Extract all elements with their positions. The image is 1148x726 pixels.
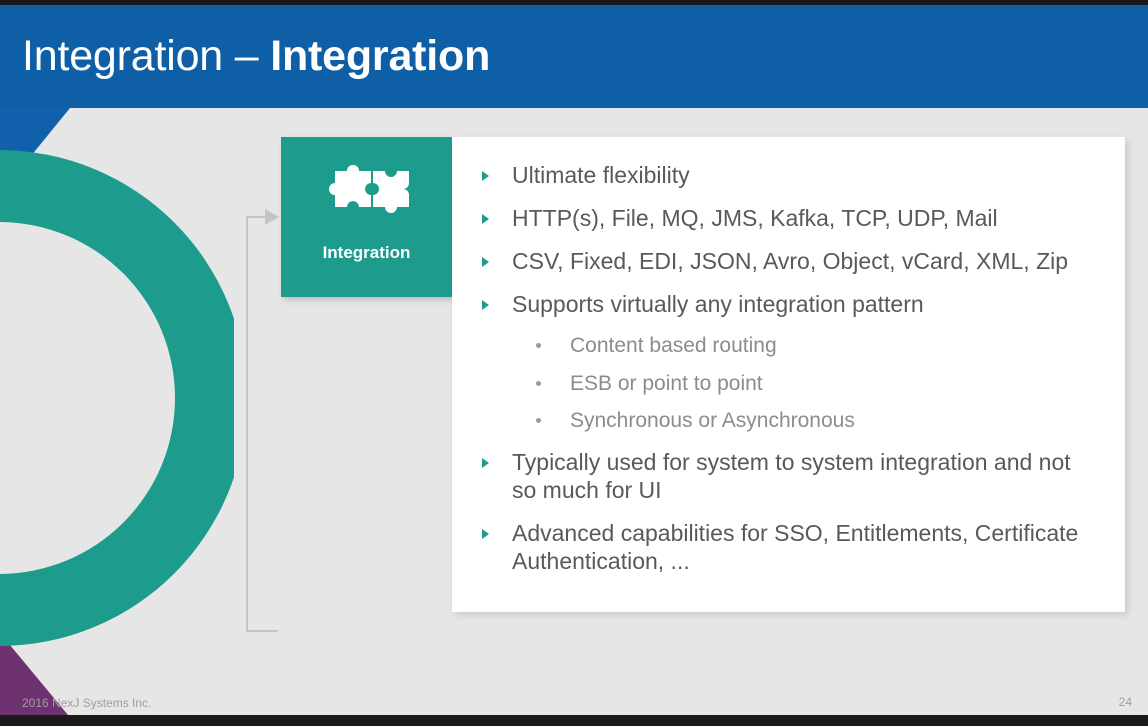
- bullet-dot-icon: [536, 408, 570, 423]
- bullet-triangle-icon: [482, 247, 512, 267]
- title-prefix: Integration –: [22, 32, 270, 80]
- footer-copyright: 2016 NexJ Systems Inc.: [22, 696, 151, 710]
- list-item: Ultimate flexibility: [482, 161, 1097, 189]
- integration-ring-graphic: Integration: [0, 98, 234, 698]
- list-item: Typically used for system to system inte…: [482, 448, 1097, 504]
- triangle-shape: [482, 214, 489, 224]
- bullet-list: Ultimate flexibilityHTTP(s), File, MQ, J…: [482, 161, 1097, 590]
- list-item-label: Advanced capabilities for SSO, Entitleme…: [512, 519, 1097, 575]
- slide-header: Integration – Integration: [0, 5, 1148, 108]
- list-item-label: CSV, Fixed, EDI, JSON, Avro, Object, vCa…: [512, 247, 1068, 275]
- triangle-shape: [482, 458, 489, 468]
- dot-shape: [536, 343, 541, 348]
- puzzle-pieces-icon: [281, 157, 452, 219]
- dot-shape: [536, 381, 541, 386]
- triangle-shape: [482, 300, 489, 310]
- bullet-triangle-icon: [482, 161, 512, 181]
- content-panel: Ultimate flexibilityHTTP(s), File, MQ, J…: [452, 137, 1125, 612]
- bullet-triangle-icon: [482, 204, 512, 224]
- dot-shape: [536, 418, 541, 423]
- slide-number: 24: [1119, 695, 1132, 709]
- bullet-triangle-icon: [482, 290, 512, 310]
- sub-list-item-label: Content based routing: [570, 333, 777, 359]
- integration-card-label: Integration: [281, 243, 452, 263]
- bullet-triangle-icon: [482, 448, 512, 468]
- list-item-label: HTTP(s), File, MQ, JMS, Kafka, TCP, UDP,…: [512, 204, 998, 232]
- sub-list-item: Synchronous or Asynchronous: [482, 408, 1097, 434]
- list-item: Advanced capabilities for SSO, Entitleme…: [482, 519, 1097, 575]
- triangle-shape: [482, 257, 489, 267]
- presentation-slide: Integration – Integration Integrat: [0, 0, 1148, 726]
- list-item: CSV, Fixed, EDI, JSON, Avro, Object, vCa…: [482, 247, 1097, 275]
- connector-bracket: [246, 216, 278, 632]
- list-item-label: Supports virtually any integration patte…: [512, 290, 924, 318]
- bullet-dot-icon: [536, 371, 570, 386]
- arrow-right-icon: [265, 209, 279, 225]
- triangle-shape: [482, 529, 489, 539]
- sub-list-item: ESB or point to point: [482, 371, 1097, 397]
- list-item: Supports virtually any integration patte…: [482, 290, 1097, 318]
- sub-list-item: Content based routing: [482, 333, 1097, 359]
- list-item: HTTP(s), File, MQ, JMS, Kafka, TCP, UDP,…: [482, 204, 1097, 232]
- title-emphasis: Integration: [270, 32, 490, 80]
- list-item-label: Typically used for system to system inte…: [512, 448, 1097, 504]
- bottom-border-strip: [0, 715, 1148, 726]
- list-item-label: Ultimate flexibility: [512, 161, 690, 189]
- sub-list-item-label: Synchronous or Asynchronous: [570, 408, 855, 434]
- page-title: Integration – Integration: [22, 32, 490, 81]
- triangle-shape: [482, 171, 489, 181]
- ring-shape-icon: [0, 98, 234, 698]
- bullet-triangle-icon: [482, 519, 512, 539]
- bullet-dot-icon: [536, 333, 570, 348]
- integration-card[interactable]: Integration: [281, 137, 452, 297]
- sub-list-item-label: ESB or point to point: [570, 371, 763, 397]
